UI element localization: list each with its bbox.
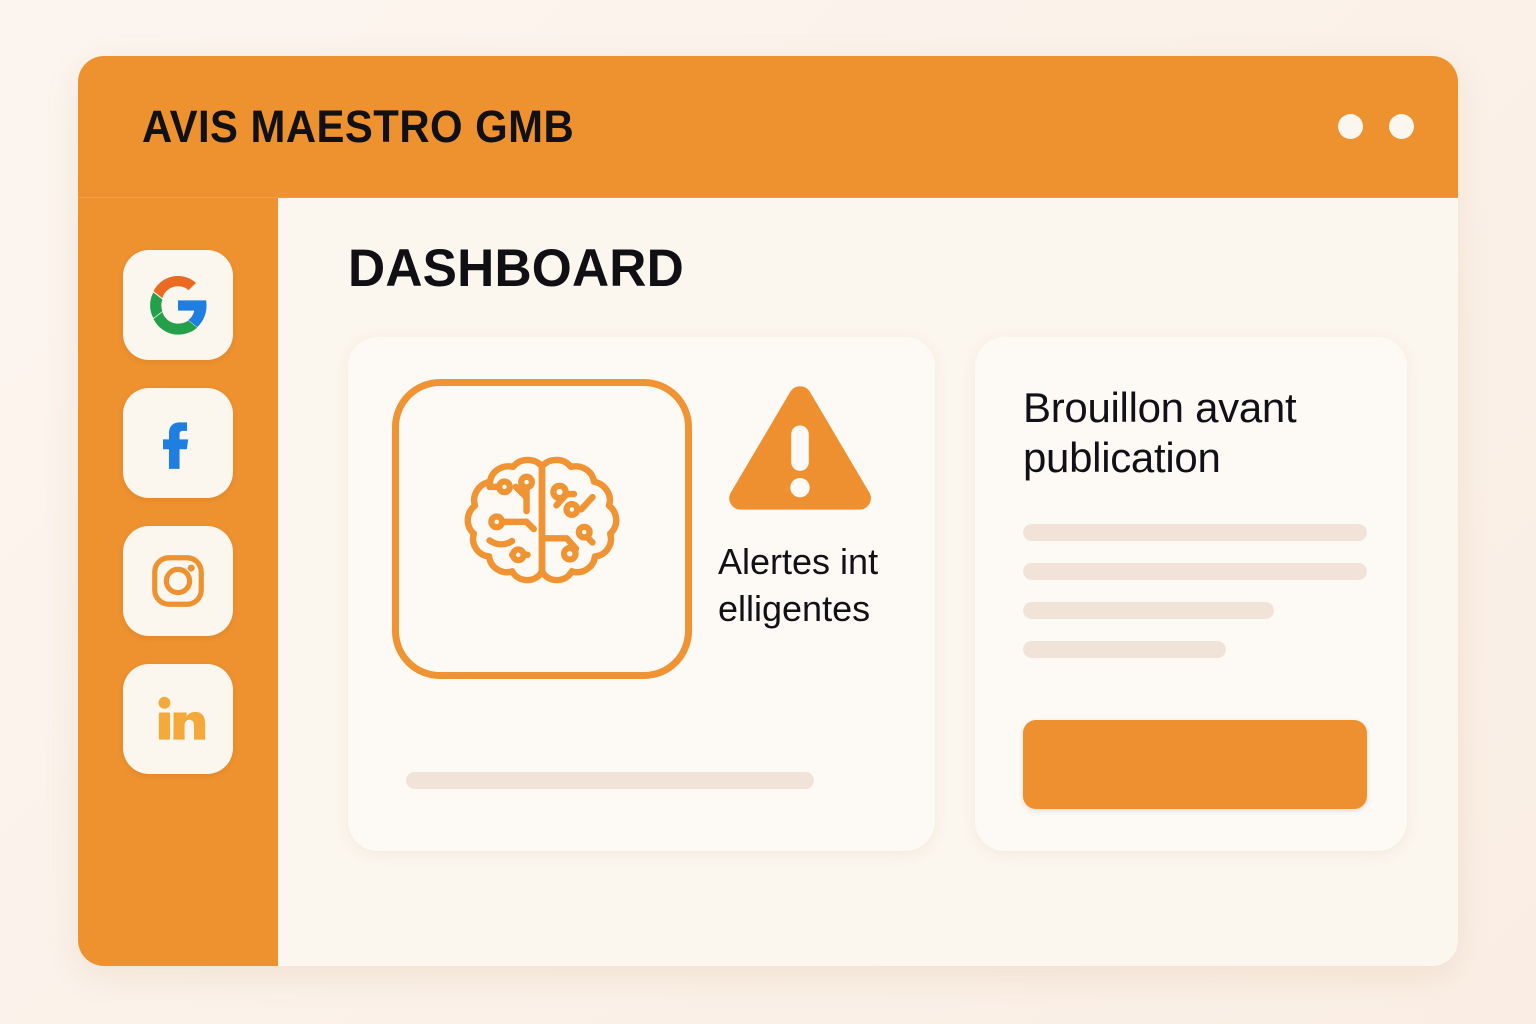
card-grid: Alertes intelligentes Brouillon avant pu… bbox=[348, 337, 1407, 851]
warning-triangle-icon bbox=[724, 383, 876, 523]
publish-button[interactable] bbox=[1023, 720, 1367, 809]
app-window: AVIS MAESTRO GMB bbox=[78, 56, 1458, 966]
facebook-icon bbox=[147, 412, 209, 474]
skeleton-line bbox=[1023, 641, 1226, 658]
skeleton-line bbox=[1023, 563, 1367, 580]
skeleton-line bbox=[1023, 524, 1367, 541]
skeleton-line bbox=[406, 772, 814, 789]
minimize-dot-icon[interactable] bbox=[1338, 114, 1363, 139]
draft-card-title: Brouillon avant publication bbox=[1023, 383, 1367, 484]
card-smart-alerts[interactable]: Alertes intelligentes bbox=[348, 337, 935, 851]
google-icon bbox=[147, 274, 209, 336]
ai-brain-icon-frame bbox=[392, 379, 692, 679]
main-content: DASHBOARD bbox=[278, 198, 1458, 966]
draft-skeleton-list bbox=[1023, 524, 1367, 658]
window-titlebar: AVIS MAESTRO GMB bbox=[78, 56, 1458, 198]
ai-brain-icon bbox=[439, 424, 645, 635]
sidebar bbox=[78, 198, 278, 966]
alert-label: Alertes intelligentes bbox=[718, 539, 894, 633]
close-dot-icon[interactable] bbox=[1389, 114, 1414, 139]
instagram-icon bbox=[147, 550, 209, 612]
sidebar-item-instagram[interactable] bbox=[123, 526, 233, 636]
sidebar-item-google[interactable] bbox=[123, 250, 233, 360]
linkedin-icon bbox=[147, 688, 209, 750]
app-background: AVIS MAESTRO GMB bbox=[0, 0, 1536, 1024]
alerts-row: Alertes intelligentes bbox=[392, 379, 891, 679]
sidebar-item-linkedin[interactable] bbox=[123, 664, 233, 774]
window-body: DASHBOARD bbox=[78, 198, 1458, 966]
app-title: AVIS MAESTRO GMB bbox=[142, 101, 574, 153]
skeleton-line bbox=[1023, 602, 1274, 619]
card-draft-before-publish[interactable]: Brouillon avant publication bbox=[975, 337, 1407, 851]
sidebar-item-facebook[interactable] bbox=[123, 388, 233, 498]
alert-text-column: Alertes intelligentes bbox=[718, 379, 894, 633]
window-controls bbox=[1338, 114, 1414, 139]
page-title: DASHBOARD bbox=[348, 238, 1375, 299]
